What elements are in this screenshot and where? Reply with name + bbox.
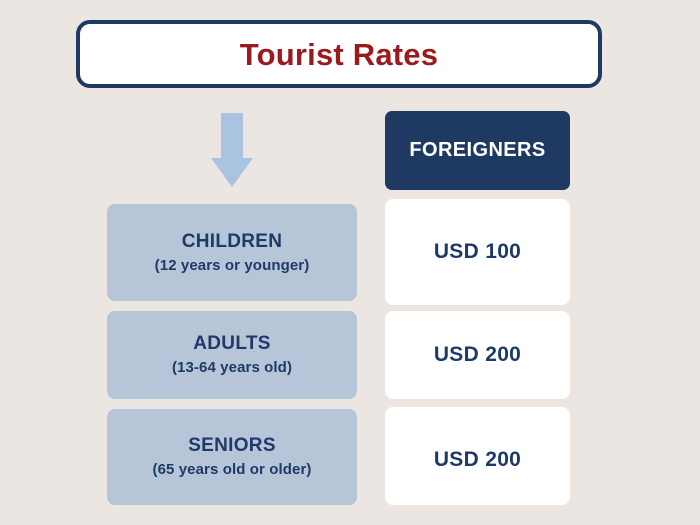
category-title: CHILDREN [182, 231, 283, 253]
category-cell-seniors: SENIORS (65 years old or older) [107, 409, 357, 505]
arrow-down-icon [211, 113, 253, 187]
column-header-foreigners: FOREIGNERS [385, 111, 570, 190]
price-value: USD 100 [434, 240, 521, 264]
price-cell-adults: USD 200 [385, 311, 570, 399]
category-cell-children: CHILDREN (12 years or younger) [107, 204, 357, 301]
column-header-label: FOREIGNERS [409, 139, 545, 162]
category-title: ADULTS [193, 333, 270, 355]
price-value: USD 200 [434, 343, 521, 367]
price-cell-children: USD 100 [385, 199, 570, 305]
price-value: USD 200 [434, 448, 521, 472]
category-cell-adults: ADULTS (13-64 years old) [107, 311, 357, 399]
category-detail: (13-64 years old) [172, 359, 292, 376]
rates-infographic: Tourist Rates FOREIGNERS CHILDREN (12 ye… [0, 0, 700, 525]
page-title: Tourist Rates [240, 39, 438, 70]
price-cell-seniors: USD 200 [385, 407, 570, 505]
category-title: SENIORS [188, 435, 276, 457]
category-detail: (12 years or younger) [155, 257, 310, 274]
title-banner: Tourist Rates [76, 20, 602, 88]
category-detail: (65 years old or older) [152, 461, 311, 478]
